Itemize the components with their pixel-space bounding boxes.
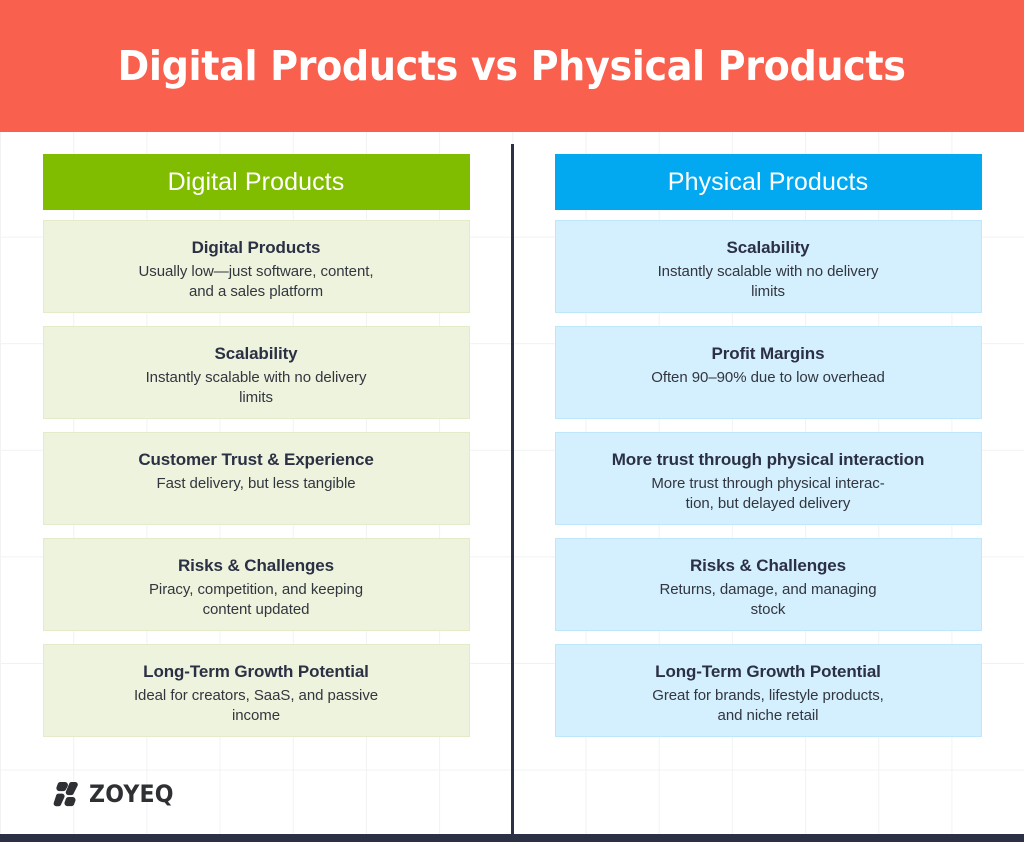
card-body: Instantly scalable with no delivery limi… [146, 368, 367, 408]
brand-logo: ZOYEQ [52, 779, 181, 809]
card-physical-4[interactable]: Risks & Challenges Returns, damage, and … [555, 538, 982, 631]
card-body: More trust through physical interac- tio… [651, 474, 884, 514]
card-title: Customer Trust & Experience [138, 449, 373, 471]
card-digital-1[interactable]: Digital Products Usually low—just softwa… [43, 220, 470, 313]
card-list-physical: Scalability Instantly scalable with no d… [555, 220, 982, 737]
card-body: Ideal for creators, SaaS, and passive in… [134, 686, 378, 726]
card-digital-3[interactable]: Customer Trust & Experience Fast deliver… [43, 432, 470, 525]
column-digital: Digital Products Digital Products Usuall… [0, 132, 512, 842]
card-body: Instantly scalable with no delivery limi… [658, 262, 879, 302]
infographic-page: Digital Products vs Physical Products Di… [0, 0, 1024, 842]
card-digital-5[interactable]: Long-Term Growth Potential Ideal for cre… [43, 644, 470, 737]
bottom-bar [0, 834, 1024, 842]
card-body: Usually low—just software, content, and … [138, 262, 373, 302]
card-title: Digital Products [192, 237, 321, 259]
card-body: Great for brands, lifestyle products, an… [652, 686, 884, 726]
card-title: Long-Term Growth Potential [655, 661, 881, 683]
card-list-digital: Digital Products Usually low—just softwa… [43, 220, 470, 737]
column-header-physical: Physical Products [555, 154, 982, 210]
card-title: Scalability [727, 237, 810, 259]
card-title: More trust through physical interaction [612, 449, 925, 471]
card-body: Piracy, competition, and keeping content… [149, 580, 363, 620]
card-title: Profit Margins [712, 343, 825, 365]
card-physical-2[interactable]: Profit Margins Often 90–90% due to low o… [555, 326, 982, 419]
card-physical-1[interactable]: Scalability Instantly scalable with no d… [555, 220, 982, 313]
card-body: Often 90–90% due to low overhead [651, 368, 885, 388]
card-body: Returns, damage, and managing stock [659, 580, 876, 620]
logo-wordmark: ZOYEQ [89, 780, 174, 808]
column-header-digital-label: Digital Products [168, 168, 345, 197]
card-title: Long-Term Growth Potential [143, 661, 369, 683]
card-title: Risks & Challenges [690, 555, 846, 577]
page-title: Digital Products vs Physical Products [118, 42, 906, 90]
header-banner: Digital Products vs Physical Products [0, 0, 1024, 132]
zoyeq-mark-icon [52, 779, 82, 809]
card-physical-5[interactable]: Long-Term Growth Potential Great for bra… [555, 644, 982, 737]
column-header-digital: Digital Products [43, 154, 470, 210]
column-divider [511, 144, 514, 836]
column-physical: Physical Products Scalability Instantly … [512, 132, 1024, 842]
card-digital-4[interactable]: Risks & Challenges Piracy, competition, … [43, 538, 470, 631]
card-physical-3[interactable]: More trust through physical interaction … [555, 432, 982, 525]
card-body: Fast delivery, but less tangible [156, 474, 355, 494]
card-title: Risks & Challenges [178, 555, 334, 577]
card-digital-2[interactable]: Scalability Instantly scalable with no d… [43, 326, 470, 419]
column-header-physical-label: Physical Products [668, 168, 868, 197]
card-title: Scalability [215, 343, 298, 365]
